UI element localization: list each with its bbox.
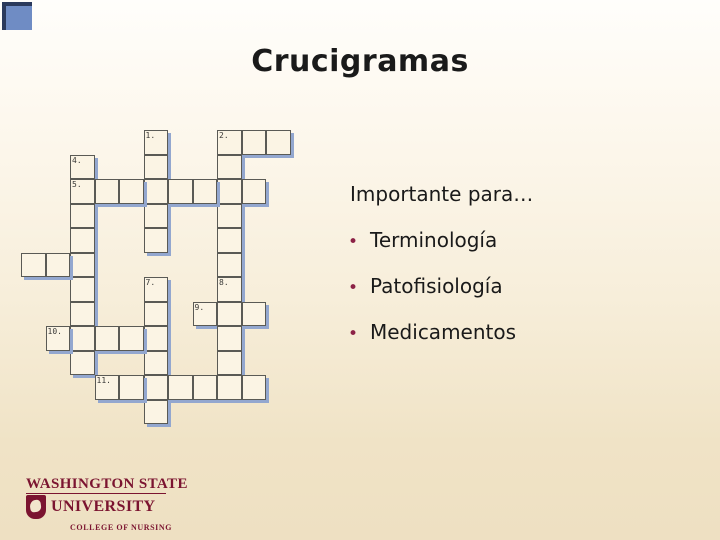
crossword-cell[interactable] [217,204,242,229]
bullet-dot-icon: • [348,234,370,251]
crossword-cell-numbered[interactable]: 2. [217,130,242,155]
slide-canvas: Crucigramas 1.2.4.5.7.8.9.10.11. Importa… [0,0,720,540]
bullet-list: •Terminología•Patofisiología•Medicamento… [348,228,688,344]
crossword-puzzle: 1.2.4.5.7.8.9.10.11. [0,0,340,440]
crossword-clue-number: 8. [219,278,229,287]
crossword-cell[interactable] [168,179,193,204]
bullet-label: Patofisiología [370,274,503,298]
crossword-clue-number: 9. [195,303,205,312]
crossword-cell[interactable] [242,179,267,204]
crossword-cell[interactable] [119,375,144,400]
content-text-block: Importante para… •Terminología•Patofisio… [348,182,688,366]
crossword-clue-number: 1. [146,131,156,140]
crossword-cell[interactable] [217,302,242,327]
logo-line-university: UNIVERSITY [51,498,155,516]
bullet-dot-icon: • [348,326,370,343]
crossword-cell[interactable] [95,179,120,204]
crossword-cell[interactable] [144,375,169,400]
crossword-cell[interactable] [144,228,169,253]
crossword-cell[interactable] [144,302,169,327]
crossword-cell[interactable] [266,130,291,155]
crossword-cell[interactable] [144,155,169,180]
bullet-dot-icon: • [348,280,370,297]
crossword-cell[interactable] [242,302,267,327]
crossword-cell[interactable] [168,375,193,400]
logo-divider [26,493,166,494]
crossword-cell[interactable] [144,326,169,351]
crossword-cell[interactable] [217,253,242,278]
crossword-cell-numbered[interactable]: 5. [70,179,95,204]
crossword-cell-numbered[interactable]: 7. [144,277,169,302]
crossword-cell[interactable] [70,253,95,278]
crossword-cell[interactable] [242,130,267,155]
crossword-clue-number: 11. [97,376,111,385]
logo-line-college-of-nursing: COLLEGE OF NURSING [70,523,186,532]
crossword-cell[interactable] [119,179,144,204]
crossword-clue-number: 10. [48,327,62,336]
crossword-cell[interactable] [70,228,95,253]
crossword-cell[interactable] [46,253,71,278]
crossword-clue-number: 7. [146,278,156,287]
crossword-cell[interactable] [95,326,120,351]
crossword-cell[interactable] [70,277,95,302]
crossword-cell[interactable] [217,375,242,400]
crossword-cell[interactable] [217,326,242,351]
crossword-cell-numbered[interactable]: 1. [144,130,169,155]
crossword-cell[interactable] [144,179,169,204]
crossword-cell[interactable] [144,400,169,425]
crossword-cell[interactable] [217,155,242,180]
crossword-cell[interactable] [242,375,267,400]
logo-row-university: UNIVERSITY [26,495,186,519]
crossword-cell[interactable] [70,351,95,376]
bullet-item: •Medicamentos [348,320,688,344]
crossword-cell[interactable] [119,326,144,351]
logo-line-washington-state: WASHINGTON STATE [26,476,186,492]
crossword-cell-numbered[interactable]: 8. [217,277,242,302]
crossword-cell-numbered[interactable]: 4. [70,155,95,180]
crossword-cell[interactable] [70,204,95,229]
crossword-cell[interactable] [217,228,242,253]
cougar-shield-icon [26,495,46,519]
crossword-cell[interactable] [193,179,218,204]
bullet-label: Medicamentos [370,320,516,344]
crossword-cell[interactable] [217,179,242,204]
crossword-clue-number: 2. [219,131,229,140]
crossword-cell-numbered[interactable]: 9. [193,302,218,327]
crossword-cell-numbered[interactable]: 10. [46,326,71,351]
crossword-cell[interactable] [144,204,169,229]
bullet-item: •Patofisiología [348,274,688,298]
crossword-cell[interactable] [217,351,242,376]
lead-text: Importante para… [350,182,688,206]
crossword-cell[interactable] [193,375,218,400]
crossword-clue-number: 4. [72,156,82,165]
crossword-clue-number: 5. [72,180,82,189]
crossword-cell[interactable] [70,326,95,351]
crossword-cell[interactable] [70,302,95,327]
crossword-cell-numbered[interactable]: 11. [95,375,120,400]
crossword-cell[interactable] [21,253,46,278]
bullet-label: Terminología [370,228,497,252]
crossword-cell[interactable] [144,351,169,376]
bullet-item: •Terminología [348,228,688,252]
wsu-logo: WASHINGTON STATE UNIVERSITY COLLEGE OF N… [26,476,186,532]
